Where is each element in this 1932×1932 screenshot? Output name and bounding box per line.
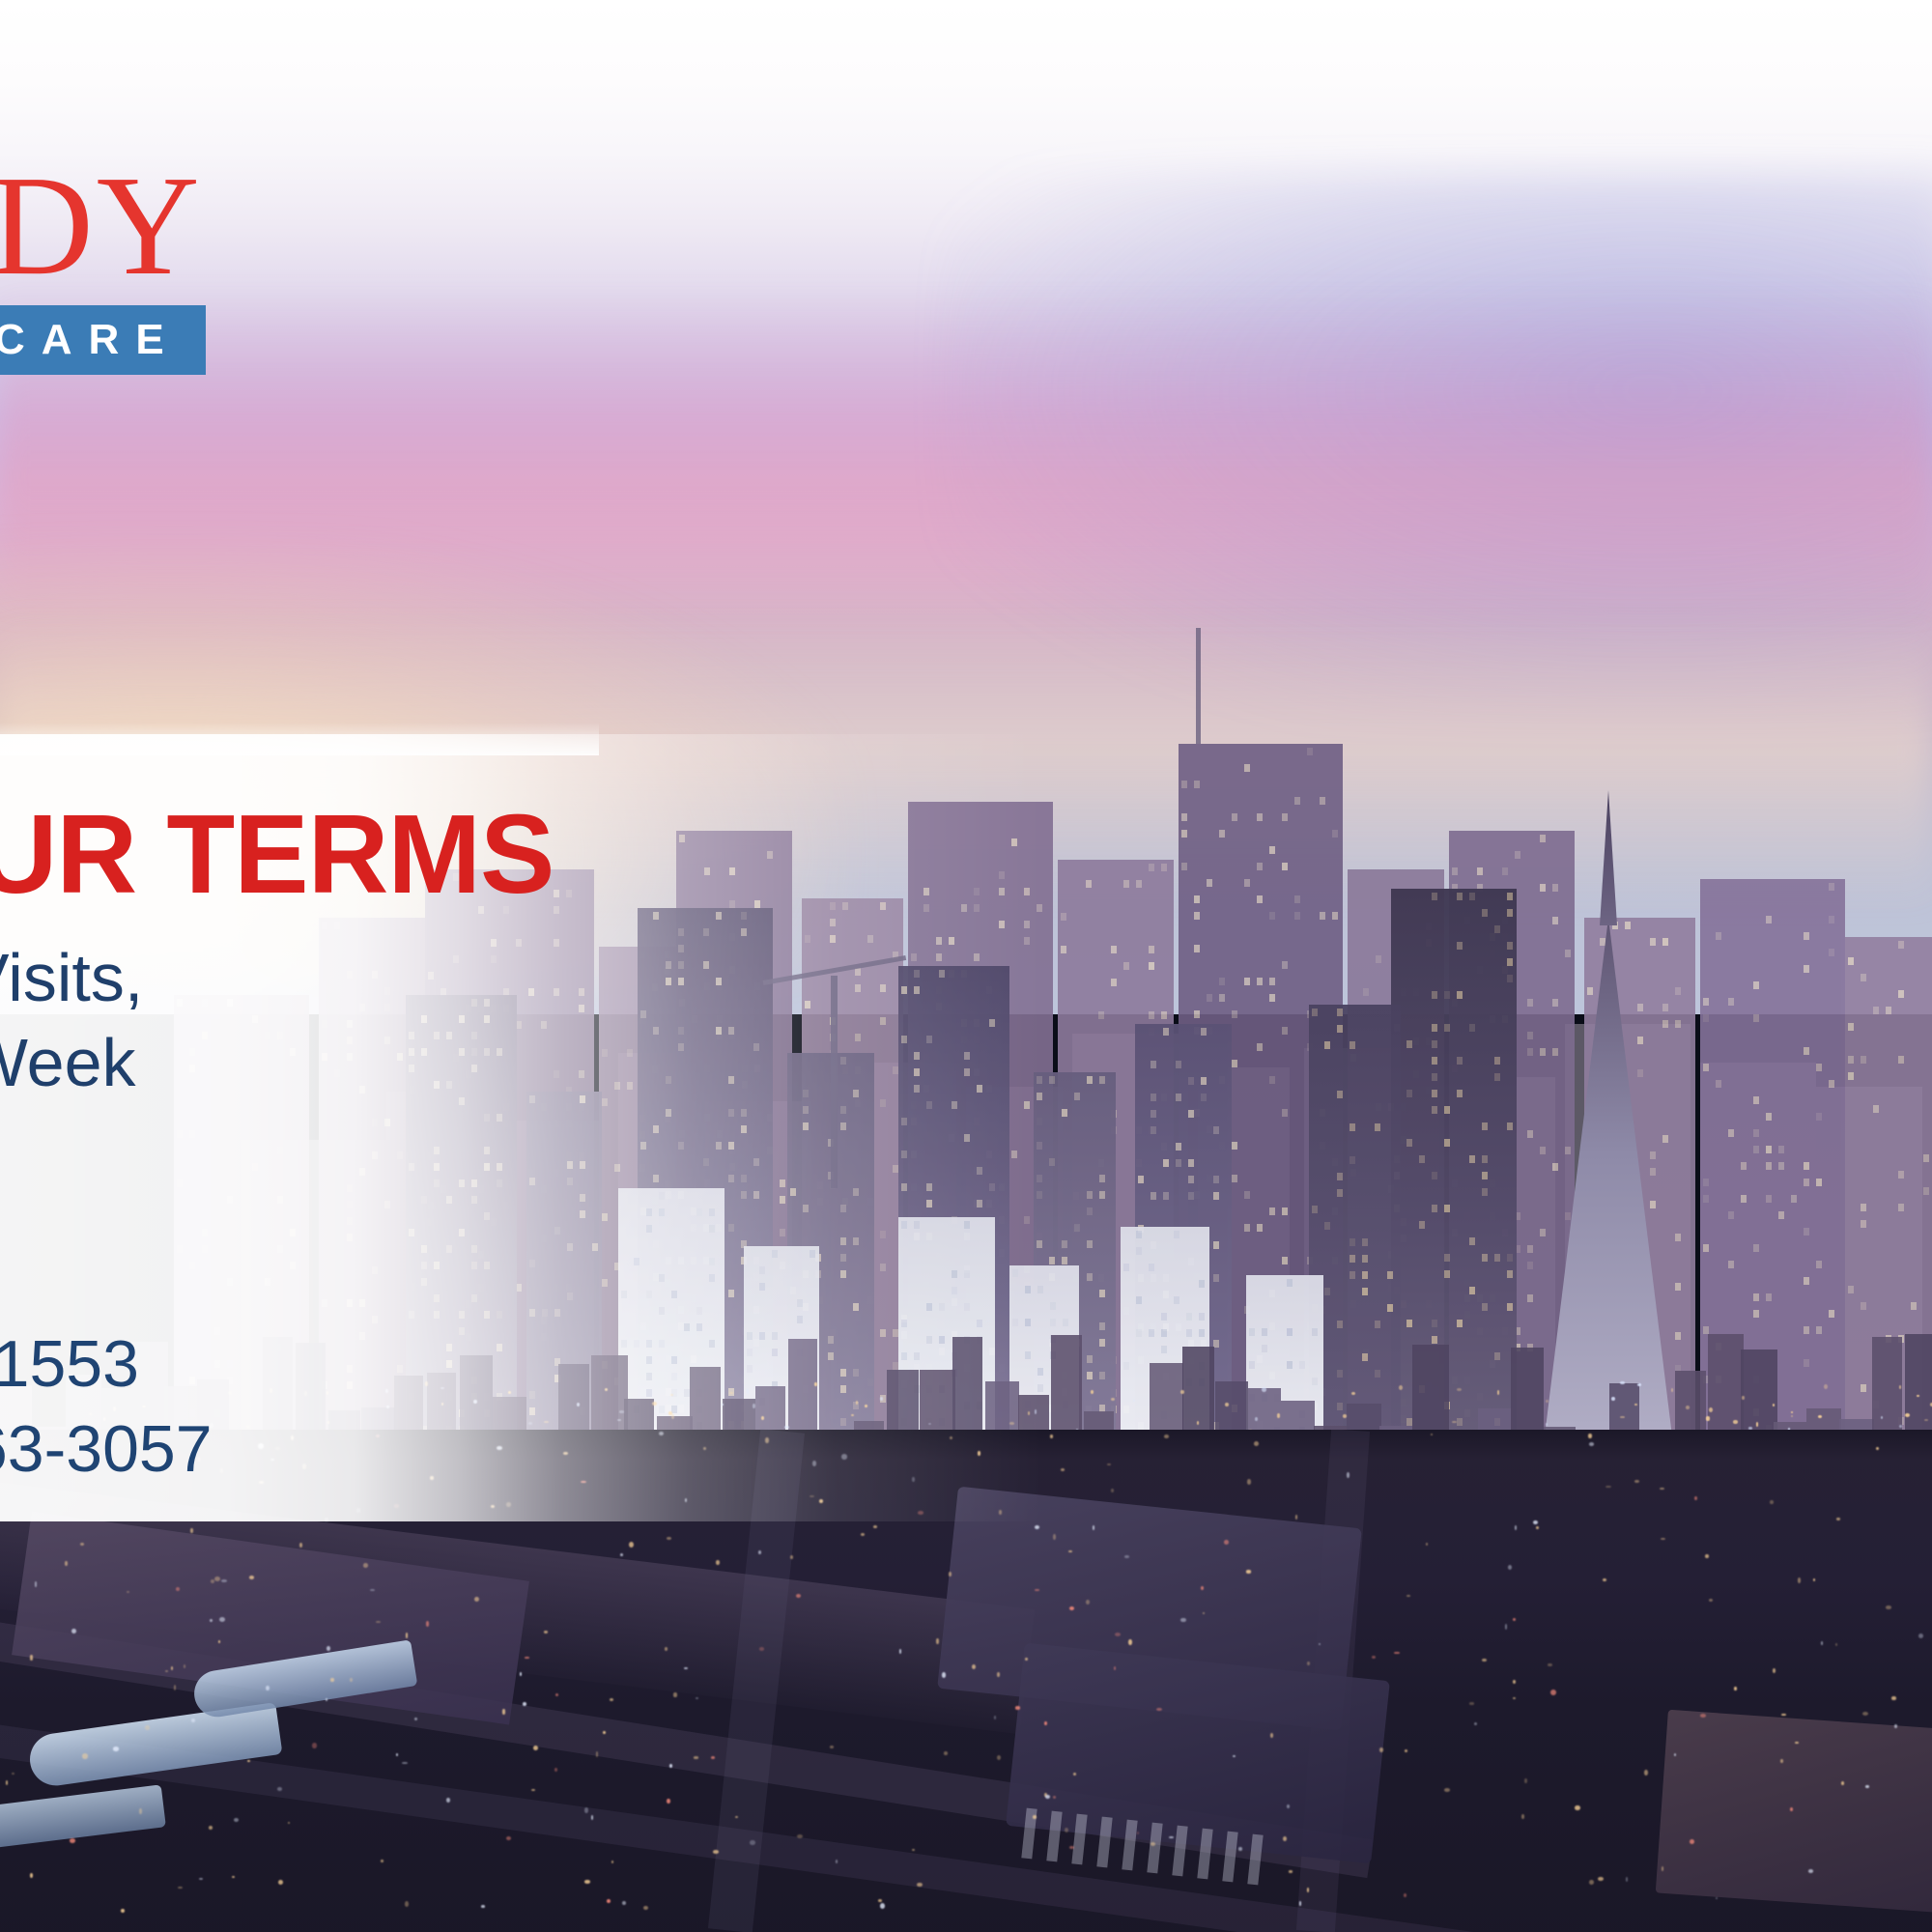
foreground-light	[165, 1670, 169, 1672]
foreground-light	[1674, 1753, 1676, 1756]
foreground-light	[611, 1861, 613, 1863]
foreground-light	[1513, 1680, 1516, 1684]
foreground-light	[402, 1762, 408, 1764]
foreground-light	[1015, 1706, 1021, 1709]
foreground-light	[1548, 1663, 1551, 1667]
foreground-light	[145, 1725, 150, 1730]
banner-canvas: ODY CARE YOUR TERMS ual Visits, s A Week…	[0, 0, 1932, 1932]
foreground-light	[1603, 1578, 1606, 1581]
foreground-light	[1394, 1652, 1399, 1655]
foreground-light	[191, 1719, 195, 1722]
foreground-light	[554, 1768, 557, 1772]
foreground-light	[1589, 1880, 1594, 1885]
foreground-light	[234, 1818, 239, 1822]
city-light	[1091, 1390, 1094, 1394]
phone-number-primary[interactable]: ) 502-1553	[0, 1321, 213, 1406]
pyramid-spire	[1600, 790, 1617, 925]
foreground-light	[6, 1780, 8, 1785]
city-light	[1452, 1421, 1456, 1423]
foreground-light	[1295, 1515, 1298, 1520]
foreground-light	[533, 1746, 538, 1750]
foreground-light	[266, 1686, 270, 1690]
foreground-light	[1598, 1877, 1604, 1881]
foreground-light	[1044, 1721, 1047, 1725]
foreground-light	[1111, 1489, 1115, 1492]
phone-number-secondary[interactable]: 62) 363-3057	[0, 1406, 213, 1492]
city-light	[1733, 1420, 1737, 1424]
foreground-light	[667, 1537, 671, 1540]
foreground-light	[405, 1901, 410, 1907]
foreground-light	[35, 1581, 38, 1586]
foreground-light	[1289, 1870, 1293, 1872]
foreground-light	[1524, 1778, 1527, 1783]
city-light	[1457, 1388, 1462, 1391]
foreground-light	[1238, 1847, 1242, 1850]
foreground-light	[176, 1587, 180, 1591]
foreground-light	[330, 1678, 333, 1681]
foreground-light	[1137, 1832, 1139, 1834]
foreground-light	[1115, 1633, 1121, 1636]
foreground-light	[830, 1746, 834, 1747]
foreground-light	[584, 1807, 588, 1813]
pier-building-2	[1006, 1643, 1390, 1864]
foreground-light	[1661, 1538, 1665, 1540]
foreground-light	[1053, 1796, 1056, 1798]
foreground-light	[1270, 1733, 1273, 1738]
foreground-light	[1405, 1749, 1408, 1752]
logo-care-label: CARE	[0, 316, 181, 363]
foreground-light	[610, 1698, 613, 1701]
foreground-light	[1444, 1788, 1450, 1792]
foreground-light	[1781, 1714, 1786, 1717]
foreground-light	[1705, 1554, 1708, 1558]
foreground-light	[406, 1633, 408, 1637]
foreground-light	[555, 1693, 558, 1696]
foreground-light	[716, 1560, 720, 1565]
foreground-light	[1813, 1578, 1815, 1581]
city-light	[1343, 1414, 1347, 1418]
foreground-light	[1372, 1656, 1376, 1659]
foreground-light	[694, 1756, 698, 1758]
foreground-light	[1233, 1755, 1235, 1757]
foreground-light	[30, 1655, 34, 1660]
foreground-light	[219, 1617, 225, 1622]
foreground-light	[912, 1849, 914, 1851]
foreground-light	[936, 1638, 938, 1643]
hero-subheading-line1: ual Visits,	[0, 935, 143, 1020]
foreground-light	[190, 1528, 192, 1533]
foreground-light	[620, 1553, 623, 1556]
foreground-light	[1086, 1600, 1090, 1605]
city-light	[1773, 1404, 1775, 1406]
foreground-light	[861, 1533, 865, 1536]
foreground-light	[481, 1905, 484, 1908]
foreground-light	[997, 1755, 1001, 1761]
foreground-light	[1694, 1496, 1697, 1500]
foreground-light	[1876, 1447, 1880, 1451]
city-light	[1546, 1400, 1548, 1403]
foreground-light	[643, 1906, 648, 1911]
foreground-light	[1061, 1468, 1065, 1471]
foreground-light	[523, 1702, 526, 1706]
foreground-light	[669, 1764, 672, 1768]
foreground-light	[1808, 1869, 1814, 1873]
foreground-light	[1918, 1634, 1923, 1638]
foreground-light	[1426, 1543, 1428, 1545]
foreground-light	[603, 1731, 606, 1734]
foreground-light	[1156, 1708, 1162, 1711]
foreground-light	[474, 1597, 479, 1602]
city-light	[1905, 1413, 1910, 1417]
foreground-light	[1575, 1805, 1580, 1811]
foreground-light	[713, 1850, 719, 1854]
foreground-light	[288, 1822, 290, 1824]
city-light	[1824, 1384, 1828, 1389]
foreground-light	[1894, 1724, 1897, 1728]
foreground-light	[1107, 1463, 1112, 1465]
foreground-light	[878, 1899, 882, 1902]
foreground-light	[396, 1753, 398, 1756]
foreground-light	[622, 1901, 626, 1905]
foreground-light	[1035, 1589, 1039, 1592]
foreground-light	[1254, 1441, 1259, 1446]
foreground-light	[880, 1903, 885, 1909]
logo-care-badge: CARE	[0, 305, 206, 375]
foreground-light	[711, 1756, 715, 1759]
foreground-light	[70, 1838, 75, 1843]
foreground-light	[1128, 1639, 1131, 1645]
foreground-light	[446, 1798, 450, 1803]
foreground-light	[1508, 1565, 1512, 1570]
foreground-light	[350, 1678, 352, 1682]
foreground-light	[506, 1836, 512, 1841]
foreground-light	[1533, 1520, 1538, 1524]
foreground-light	[1050, 1435, 1054, 1438]
foreground-light	[414, 1718, 417, 1719]
foreground-light	[1644, 1770, 1647, 1776]
foreground-light	[1709, 1599, 1713, 1602]
foreground-light	[1634, 1480, 1639, 1483]
foreground-light	[363, 1563, 369, 1568]
foreground-light	[113, 1747, 119, 1750]
foreground-light	[607, 1899, 611, 1903]
foreground-light	[1589, 1442, 1595, 1446]
foreground-light	[1770, 1500, 1774, 1504]
foreground-light	[1773, 1668, 1776, 1673]
foreground-light	[873, 1525, 877, 1528]
foreground-light	[65, 1561, 67, 1566]
foreground-light	[312, 1743, 317, 1748]
foreground-light	[30, 1873, 33, 1878]
foreground-light	[139, 1808, 141, 1814]
foreground-light	[1536, 1526, 1538, 1529]
foreground-light	[178, 1887, 183, 1889]
foreground-light	[381, 1860, 384, 1862]
foreground-light	[221, 1579, 227, 1582]
foreground-light	[667, 1799, 669, 1804]
foreground-light	[1180, 1618, 1185, 1623]
foreground-light	[1474, 1722, 1476, 1725]
foreground-light	[1045, 1795, 1049, 1799]
city-light	[1899, 1425, 1902, 1428]
rooftop-antenna	[1196, 628, 1201, 744]
foreground-light	[1505, 1624, 1507, 1630]
city-light	[1611, 1397, 1615, 1402]
foreground-light	[1379, 1747, 1383, 1752]
foreground-light	[121, 1909, 125, 1913]
foreground-light	[1550, 1690, 1556, 1695]
foreground-light	[673, 1692, 676, 1696]
foreground-light	[1404, 1893, 1406, 1897]
foreground-light	[326, 1698, 327, 1701]
foreground-light	[1836, 1518, 1840, 1520]
hero-subheading: ual Visits, s A Week	[0, 935, 143, 1105]
city-light	[1686, 1406, 1690, 1409]
foreground-light	[199, 1878, 204, 1880]
foreground-light	[232, 1876, 235, 1878]
city-light	[1497, 1390, 1499, 1395]
foreground-light	[1605, 1486, 1611, 1488]
foreground-light	[299, 1543, 302, 1548]
foreground-light	[278, 1880, 283, 1885]
foreground-light	[944, 1751, 948, 1755]
city-light	[1756, 1422, 1758, 1427]
foreground-light	[184, 1664, 185, 1668]
city-light	[1262, 1387, 1266, 1392]
city-light	[1706, 1416, 1710, 1420]
foreground-light	[1886, 1605, 1891, 1609]
foreground-light	[1626, 1877, 1628, 1882]
city-light	[1197, 1421, 1199, 1425]
foreground-light	[209, 1826, 213, 1830]
hero-headline: YOUR TERMS	[0, 798, 554, 910]
foreground-light	[665, 1647, 668, 1650]
foreground-light	[836, 1860, 838, 1863]
contact-phone-list[interactable]: ) 502-1553 62) 363-3057	[0, 1321, 213, 1492]
foreground-light	[531, 1789, 536, 1791]
city-light	[1620, 1416, 1624, 1418]
foreground-light	[1716, 1897, 1719, 1899]
brand-logo[interactable]: ODY CARE	[0, 155, 386, 375]
city-light	[1742, 1396, 1744, 1399]
foreground-light	[12, 1773, 14, 1775]
foreground-light	[1431, 1434, 1433, 1435]
foreground-light	[1521, 1814, 1524, 1819]
foreground-light	[790, 1555, 793, 1559]
foreground-light	[1821, 1641, 1823, 1645]
city-light	[1917, 1395, 1918, 1397]
foreground-light	[1588, 1434, 1592, 1437]
foreground-light	[696, 1697, 698, 1699]
foreground-light	[1347, 1472, 1349, 1478]
foreground-light	[82, 1753, 88, 1758]
foreground-light	[1835, 1643, 1837, 1646]
foreground-light	[1862, 1712, 1868, 1716]
foreground-light	[1068, 1550, 1071, 1552]
foreground-light	[949, 1572, 952, 1577]
foreground-light	[1406, 1595, 1410, 1597]
foreground-light	[214, 1577, 220, 1581]
foreground-light	[1798, 1577, 1801, 1582]
foreground-light	[797, 1834, 803, 1838]
foreground-light	[1865, 1785, 1869, 1789]
foreground-light	[1513, 1618, 1516, 1621]
foreground-light	[247, 1760, 250, 1762]
city-light	[1709, 1407, 1713, 1412]
foreground-light	[1482, 1659, 1486, 1662]
foreground-light	[1660, 1488, 1664, 1490]
foreground-light	[1246, 1570, 1252, 1573]
foreground-light	[1891, 1696, 1895, 1700]
pier-building-3	[1656, 1710, 1932, 1913]
foreground-light	[1151, 1842, 1155, 1846]
foreground-light	[1515, 1525, 1517, 1531]
foreground-light	[1469, 1702, 1474, 1705]
foreground-light	[591, 1815, 593, 1820]
foreground-light	[426, 1621, 430, 1627]
foreground-light	[174, 1685, 176, 1690]
foreground-light	[1700, 1714, 1706, 1718]
foreground-light	[1053, 1534, 1055, 1540]
hero-subheading-line2: s A Week	[0, 1020, 143, 1105]
boat-3	[0, 1784, 166, 1851]
logo-wordmark: ODY	[0, 155, 386, 298]
foreground-light	[1513, 1697, 1516, 1700]
foreground-light	[584, 1880, 589, 1883]
foreground-light	[1734, 1687, 1737, 1690]
foreground-light	[1164, 1435, 1170, 1438]
foreground-light	[1025, 1658, 1027, 1661]
foreground-light	[629, 1542, 634, 1548]
foreground-light	[1247, 1479, 1251, 1485]
foreground-light	[520, 1672, 522, 1677]
